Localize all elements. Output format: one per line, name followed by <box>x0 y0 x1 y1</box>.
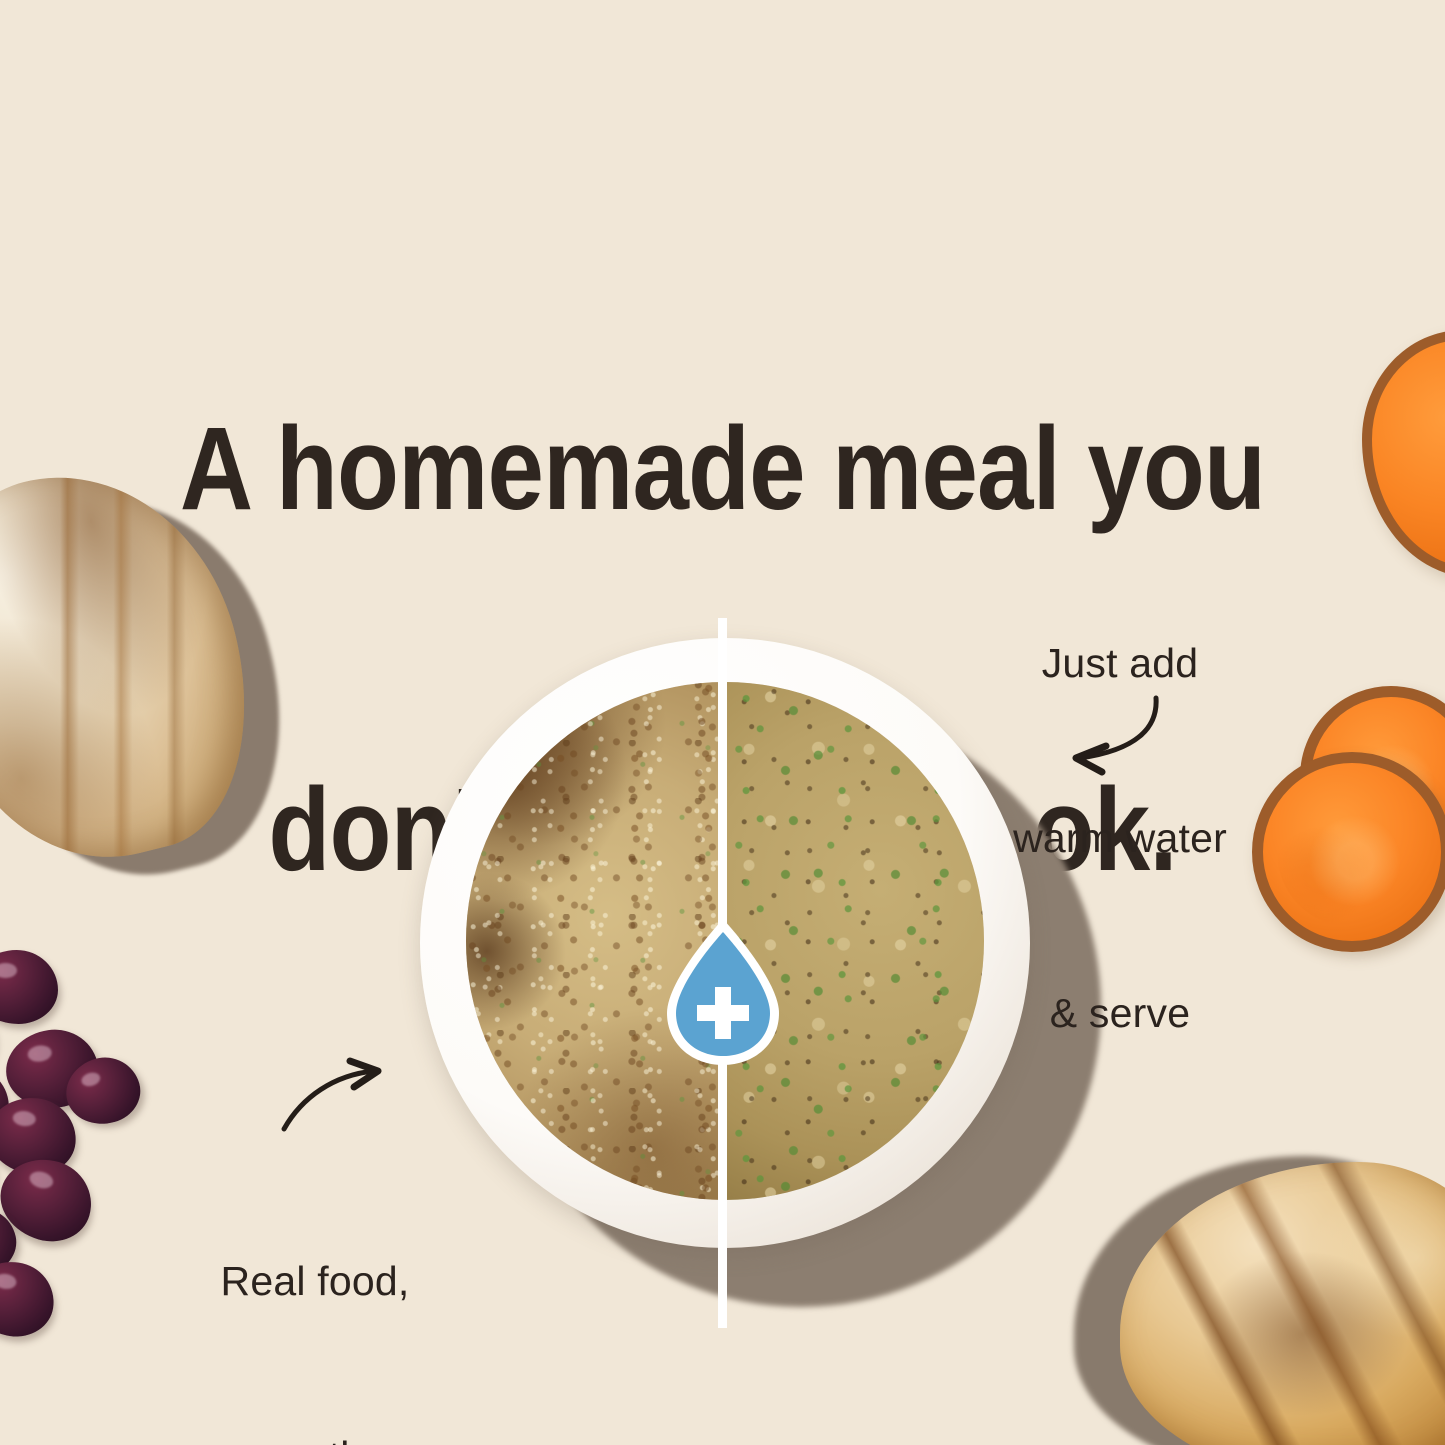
annotation-right-line-1: Just add <box>955 634 1285 692</box>
grilled-chicken-breast-image <box>1092 1148 1445 1445</box>
annotation-right-line-2: warm water <box>955 809 1285 867</box>
water-drop-plus-icon <box>653 913 793 1071</box>
annotation-left-line-1: Real food, <box>150 1252 480 1310</box>
cranberry <box>0 950 58 1024</box>
annotation-just-add-warm-water: Just add warm water & serve <box>955 518 1285 1158</box>
sweet-potato-slice-top-image <box>1362 330 1445 578</box>
chicken-body <box>1120 1162 1445 1445</box>
annotation-right-line-3: & serve <box>955 984 1285 1042</box>
curved-arrow-up-right-icon <box>278 1055 398 1135</box>
annotation-left-line-2: gently <box>150 1427 480 1445</box>
cranberry <box>0 1257 59 1342</box>
product-marketing-image: A homemade meal you don’t have to cook. … <box>0 0 1445 1445</box>
headline-line-1: A homemade meal you <box>101 409 1344 529</box>
annotation-real-food-gently-dehydrated: Real food, gently dehydrated <box>150 1136 480 1445</box>
curved-arrow-down-left-icon <box>1040 688 1190 778</box>
